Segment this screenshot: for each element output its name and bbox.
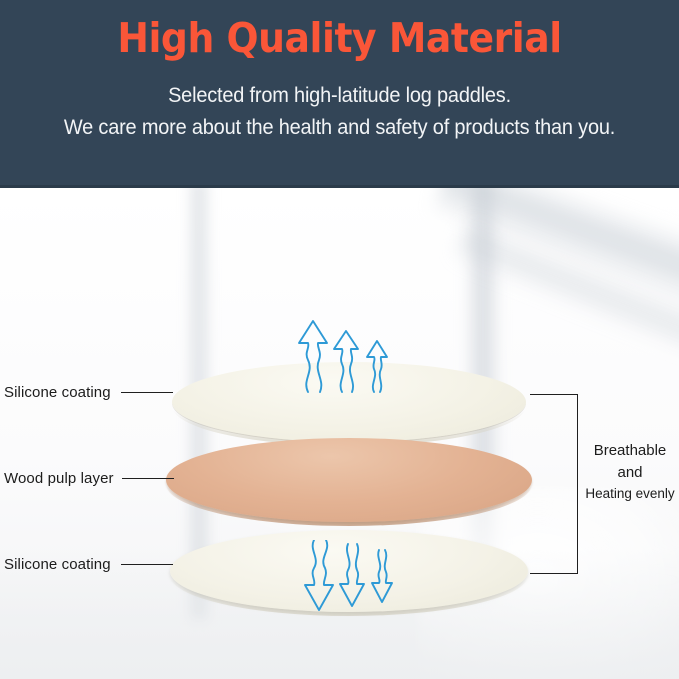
benefit-bracket bbox=[530, 394, 578, 574]
header-banner: High Quality Material Selected from high… bbox=[0, 0, 679, 188]
wood-pulp-layer bbox=[166, 438, 532, 522]
leader-line-wood-pulp bbox=[122, 478, 174, 479]
header-subtitle-line1: Selected from high-latitude log paddles. bbox=[17, 84, 662, 108]
callout-line-3: Heating evenly bbox=[582, 484, 678, 504]
airflow-down-group bbox=[300, 540, 400, 624]
leader-line-top-silicone bbox=[121, 392, 173, 393]
leader-line-bottom-silicone bbox=[121, 564, 173, 565]
wavy-arrow-down-icon bbox=[300, 540, 400, 624]
callout-line-2: and bbox=[582, 462, 678, 484]
label-wood-pulp-layer: Wood pulp layer bbox=[4, 470, 114, 487]
airflow-up-group bbox=[296, 306, 396, 394]
benefit-callout: Breathable and Heating evenly bbox=[582, 440, 678, 503]
header-subtitle-line2: We care more about the health and safety… bbox=[17, 116, 662, 140]
page-title: High Quality Material bbox=[27, 14, 652, 62]
callout-line-1: Breathable bbox=[582, 440, 678, 462]
label-bottom-silicone-coating: Silicone coating bbox=[4, 556, 111, 573]
label-top-silicone-coating: Silicone coating bbox=[4, 384, 111, 401]
wavy-arrow-up-icon bbox=[296, 306, 396, 394]
infographic-page: High Quality Material Selected from high… bbox=[0, 0, 679, 679]
